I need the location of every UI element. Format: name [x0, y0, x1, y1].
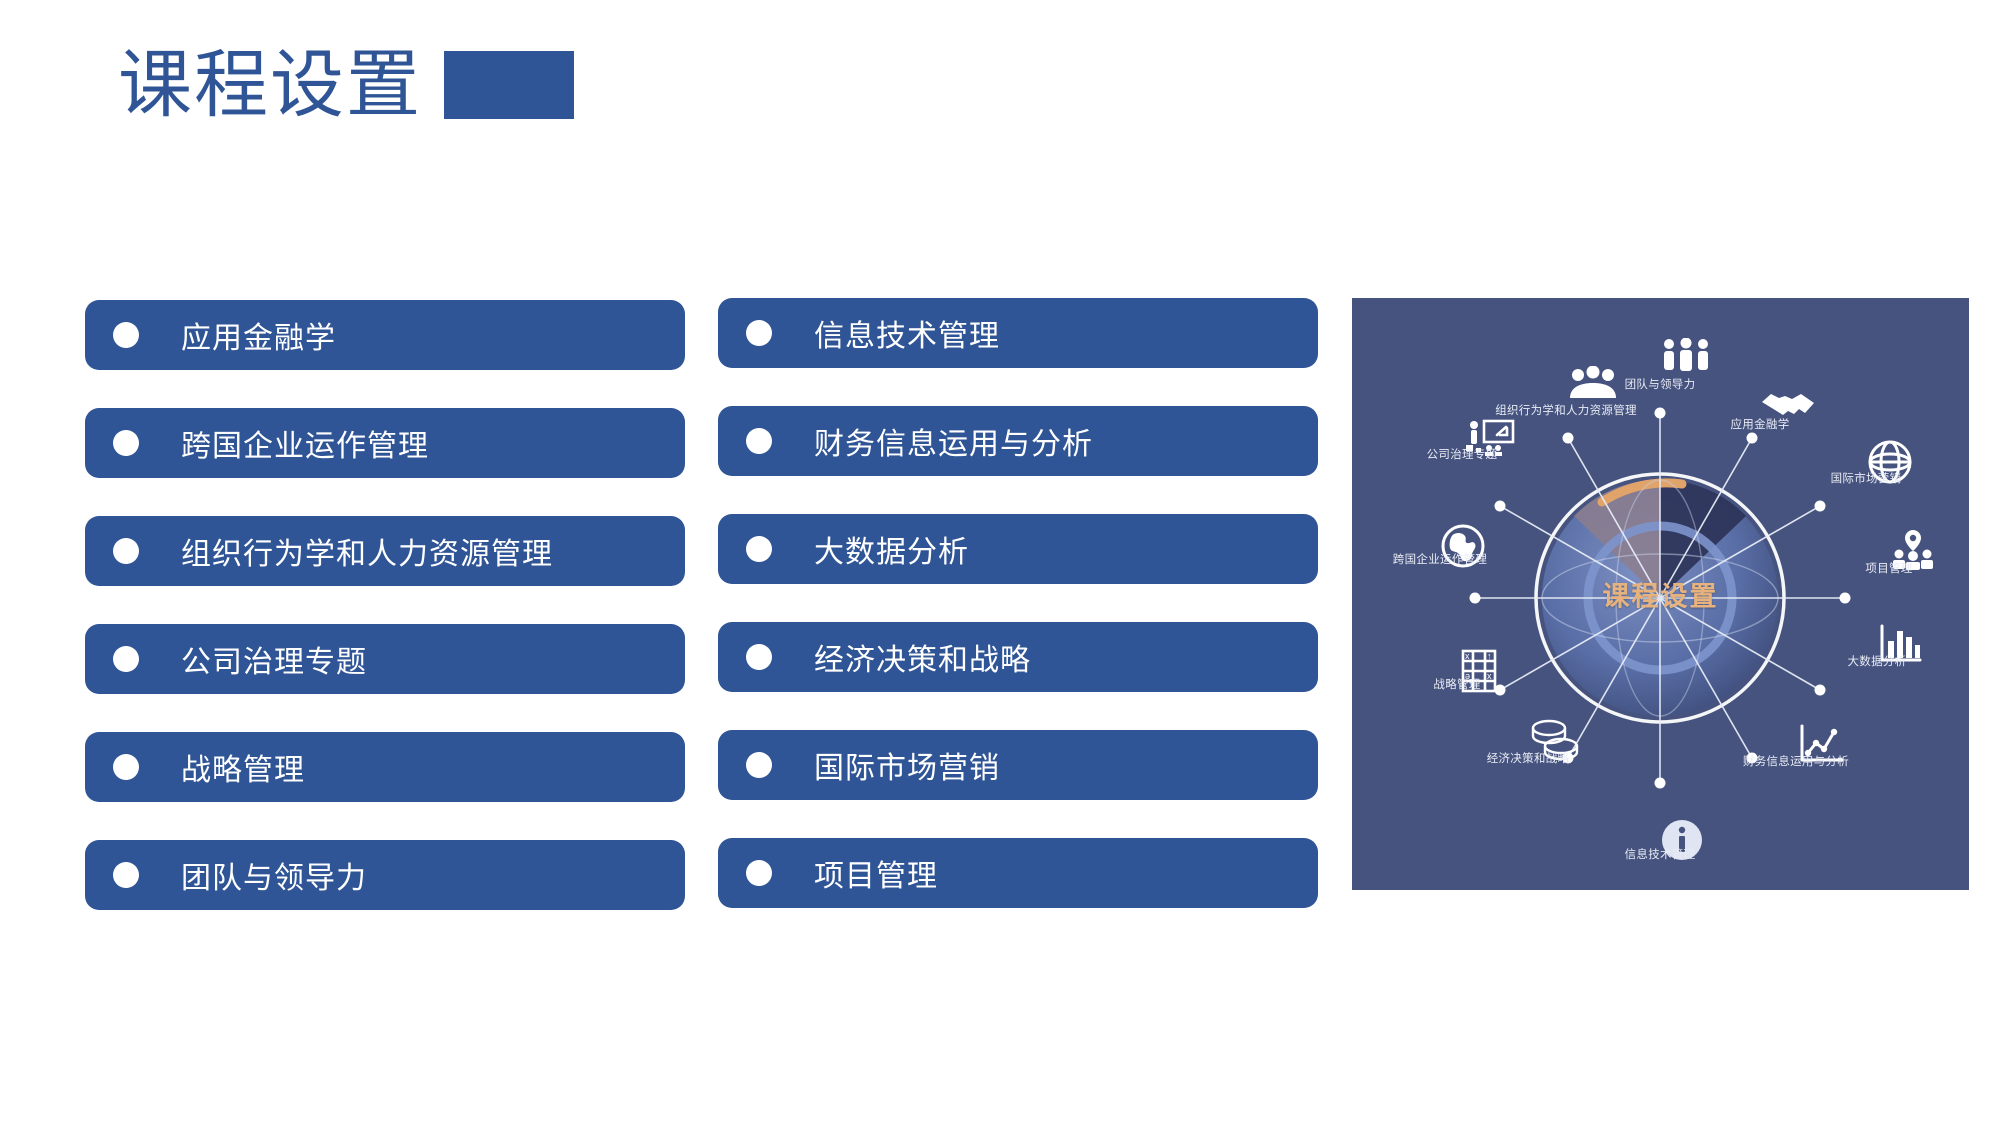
course-item[interactable]: 团队与领导力	[85, 840, 685, 910]
course-item[interactable]: 组织行为学和人力资源管理	[85, 516, 685, 586]
bullet-dot-icon	[746, 644, 772, 670]
course-item[interactable]: 信息技术管理	[718, 298, 1318, 368]
bullet-dot-icon	[746, 428, 772, 454]
diagram-node-label: 公司治理专题	[1427, 446, 1498, 462]
diagram-node-label: 组织行为学和人力资源管理	[1495, 402, 1637, 418]
bullet-dot-icon	[746, 536, 772, 562]
course-item[interactable]: 战略管理	[85, 732, 685, 802]
course-item-label: 应用金融学	[181, 313, 336, 357]
course-item[interactable]: 跨国企业运作管理	[85, 408, 685, 478]
diagram-node-label: 战略管理	[1433, 676, 1480, 692]
course-item-label: 组织行为学和人力资源管理	[181, 529, 553, 573]
bullet-dot-icon	[113, 754, 139, 780]
diagram-node-label: 大数据分析	[1848, 653, 1907, 669]
course-item-label: 国际市场营销	[814, 743, 1000, 787]
bullet-dot-icon	[113, 538, 139, 564]
diagram-node-label: 经济决策和战略	[1487, 750, 1570, 766]
course-item[interactable]: 项目管理	[718, 838, 1318, 908]
course-item-label: 大数据分析	[814, 527, 969, 571]
diagram-center-label: 课程设置	[1603, 575, 1719, 614]
course-item[interactable]: 公司治理专题	[85, 624, 685, 694]
bullet-dot-icon	[746, 860, 772, 886]
course-item-label: 项目管理	[814, 851, 938, 895]
course-item[interactable]: 财务信息运用与分析	[718, 406, 1318, 476]
diagram-node-label: 应用金融学	[1731, 416, 1790, 432]
slide-root: 课程设置 应用金融学 跨国企业运作管理 组织行为学和人力资源管理 公司治理专题	[0, 0, 2000, 1125]
course-item-label: 经济决策和战略	[814, 635, 1031, 679]
bullet-dot-icon	[113, 646, 139, 672]
course-column-left: 应用金融学 跨国企业运作管理 组织行为学和人力资源管理 公司治理专题 战略管理 …	[85, 300, 685, 948]
course-item-label: 战略管理	[181, 745, 305, 789]
course-item-label: 信息技术管理	[814, 311, 1000, 355]
diagram-node-label: 团队与领导力	[1625, 376, 1696, 392]
svg-text:x: x	[1465, 651, 1470, 661]
course-column-right: 信息技术管理 财务信息运用与分析 大数据分析 经济决策和战略 国际市场营销 项目…	[718, 298, 1318, 946]
bullet-dot-icon	[113, 430, 139, 456]
course-item[interactable]: 大数据分析	[718, 514, 1318, 584]
course-item[interactable]: 应用金融学	[85, 300, 685, 370]
svg-text:↑: ↑	[1487, 651, 1492, 661]
svg-text:x: x	[1487, 671, 1492, 681]
bullet-dot-icon	[113, 862, 139, 888]
diagram-node-label: 财务信息运用与分析	[1743, 753, 1849, 769]
course-item-label: 财务信息运用与分析	[814, 419, 1093, 463]
bullet-dot-icon	[746, 752, 772, 778]
course-item[interactable]: 经济决策和战略	[718, 622, 1318, 692]
diagram-node-label: 跨国企业运作管理	[1393, 551, 1487, 567]
bullet-dot-icon	[113, 322, 139, 348]
diagram-node-label: 信息技术管理	[1625, 846, 1696, 862]
course-item[interactable]: 国际市场营销	[718, 730, 1318, 800]
course-item-label: 公司治理专题	[181, 637, 367, 681]
diagram-node-label: 项目管理	[1865, 560, 1912, 576]
course-item-label: 跨国企业运作管理	[181, 421, 429, 465]
diagram-node-label: 国际市场营销	[1831, 470, 1902, 486]
course-item-label: 团队与领导力	[181, 853, 367, 897]
bullet-dot-icon	[746, 320, 772, 346]
course-wheel-diagram: 课程设置 团队与领导力 组织行为学和人力资源管理	[1352, 298, 1969, 890]
